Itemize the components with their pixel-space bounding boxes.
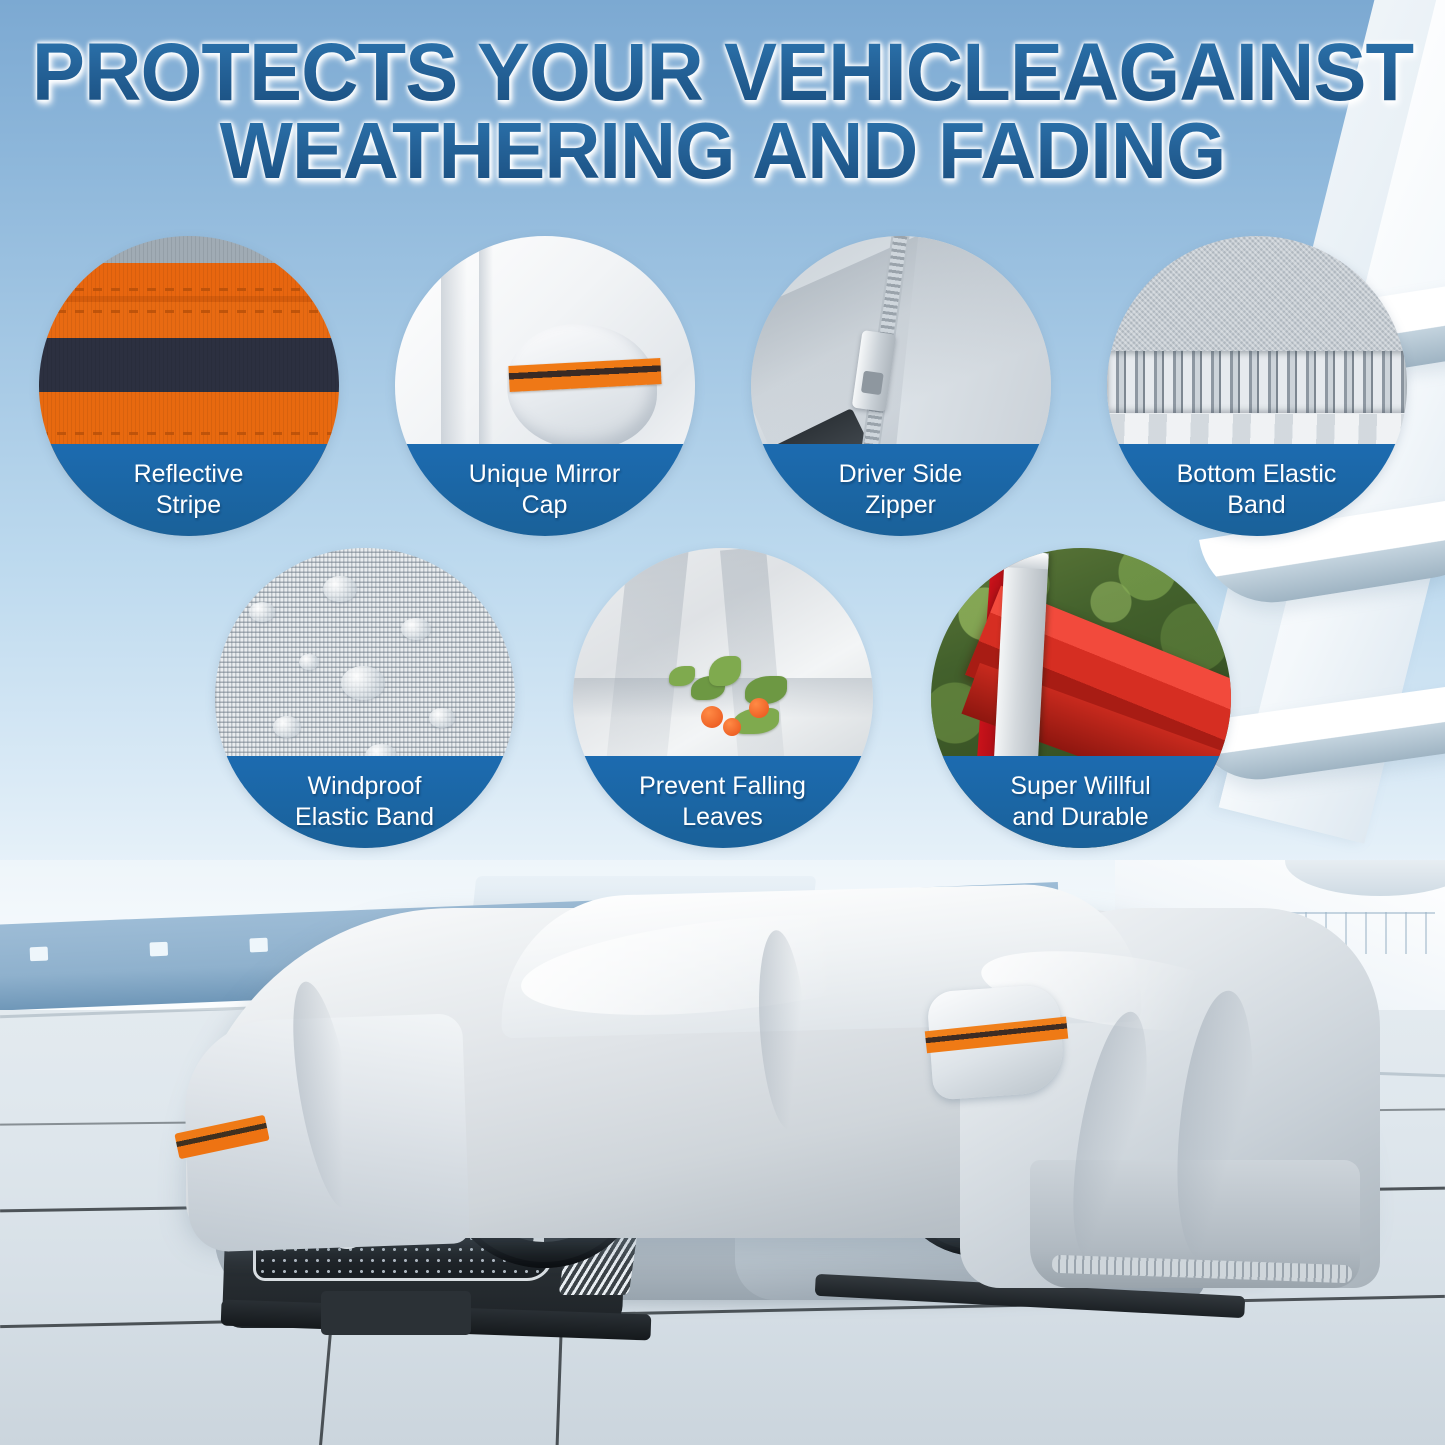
- feature-windproof-elastic-band[interactable]: Windproof Elastic Band: [215, 548, 515, 848]
- product-infographic: PROTECTS YOUR VEHICLEAGAINST WEATHERING …: [0, 0, 1445, 1445]
- caption-line-1: Super Willful: [1010, 771, 1150, 802]
- hero-scene: [0, 860, 1445, 1445]
- feature-caption: Bottom Elastic Band: [1107, 444, 1407, 536]
- caption-line-2: Zipper: [865, 490, 936, 521]
- caption-line-1: Unique Mirror: [469, 459, 620, 490]
- caption-line-1: Windproof: [308, 771, 422, 802]
- feature-circle: Prevent Falling Leaves: [573, 548, 873, 848]
- feature-circle: Reflective Stripe: [39, 236, 339, 536]
- feature-caption: Unique Mirror Cap: [395, 444, 695, 536]
- feature-row-2: Windproof Elastic Band: [0, 548, 1445, 848]
- car-body: [175, 1035, 1245, 1365]
- feature-circle: Super Willful and Durable: [931, 548, 1231, 848]
- caption-line-1: Reflective: [134, 459, 244, 490]
- caption-line-2: and Durable: [1012, 802, 1148, 833]
- caption-line-2: Stripe: [156, 490, 221, 521]
- caption-line-1: Bottom Elastic: [1177, 459, 1337, 490]
- feature-bottom-elastic-band[interactable]: Bottom Elastic Band: [1107, 236, 1407, 536]
- license-plate-area: [321, 1291, 471, 1335]
- caption-line-1: Driver Side: [839, 459, 963, 490]
- feature-caption: Windproof Elastic Band: [215, 756, 515, 848]
- feature-prevent-falling-leaves[interactable]: Prevent Falling Leaves: [573, 548, 873, 848]
- feature-grid: Reflective Stripe Unique Mirror Cap: [0, 236, 1445, 848]
- caption-line-2: Elastic Band: [295, 802, 434, 833]
- feature-reflective-stripe[interactable]: Reflective Stripe: [39, 236, 339, 536]
- feature-circle: Windproof Elastic Band: [215, 548, 515, 848]
- caption-line-2: Band: [1227, 490, 1285, 521]
- feature-circle: Unique Mirror Cap: [395, 236, 695, 536]
- feature-caption: Prevent Falling Leaves: [573, 756, 873, 848]
- feature-row-1: Reflective Stripe Unique Mirror Cap: [0, 236, 1445, 536]
- feature-unique-mirror-cap[interactable]: Unique Mirror Cap: [395, 236, 695, 536]
- feature-caption: Driver Side Zipper: [751, 444, 1051, 536]
- cover-mirror-pocket: [926, 984, 1065, 1101]
- feature-caption: Super Willful and Durable: [931, 756, 1231, 848]
- feature-caption: Reflective Stripe: [39, 444, 339, 536]
- feature-circle: Driver Side Zipper: [751, 236, 1051, 536]
- caption-line-2: Leaves: [682, 802, 763, 833]
- front-wheel: [440, 1060, 648, 1268]
- feature-driver-side-zipper[interactable]: Driver Side Zipper: [751, 236, 1051, 536]
- mirror-reflective-stripe: [925, 1017, 1069, 1054]
- rear-wheel: [892, 1086, 1062, 1256]
- feature-super-willful-durable[interactable]: Super Willful and Durable: [931, 548, 1231, 848]
- caption-line-2: Cap: [522, 490, 568, 521]
- caption-line-1: Prevent Falling: [639, 771, 806, 802]
- car-badge: [323, 1193, 371, 1249]
- feature-circle: Bottom Elastic Band: [1107, 236, 1407, 536]
